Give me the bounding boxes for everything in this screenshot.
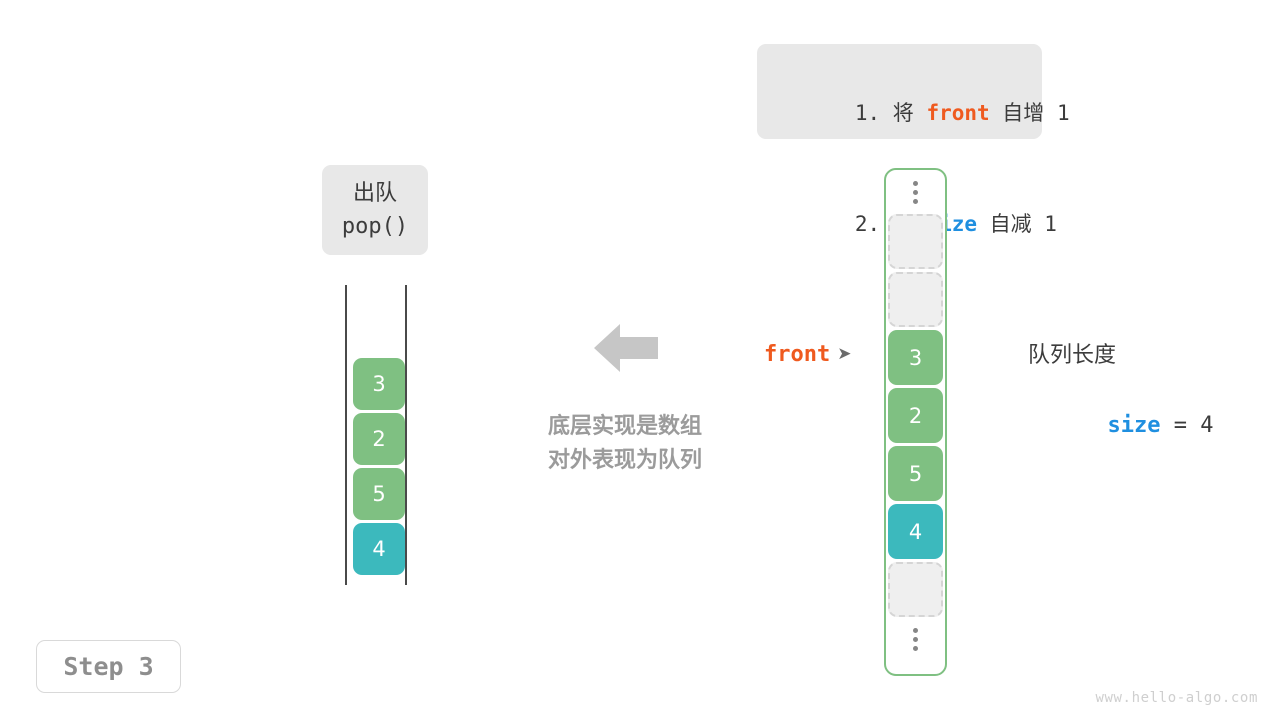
instruction-line-1-suffix: 自增 1 <box>990 101 1070 125</box>
instruction-line-1-prefix: 1. 将 <box>855 101 927 125</box>
array-empty-cell <box>888 562 943 617</box>
diagram-canvas: 1. 将 front 自增 1 2. 将 size 自减 1 出队 pop() … <box>0 0 1280 720</box>
queue-rail-right <box>405 285 407 585</box>
array-bottom-ellipsis-icon <box>913 617 918 661</box>
queue-cell: 4 <box>353 523 405 575</box>
queue-cell: 2 <box>353 413 405 465</box>
watermark-text: www.hello-algo.com <box>1095 690 1258 706</box>
center-caption-line-2: 对外表现为队列 <box>498 444 752 478</box>
queue-cell: 5 <box>353 468 405 520</box>
step-badge: Step 3 <box>36 640 181 693</box>
instruction-line-1-keyword: front <box>926 101 989 125</box>
step-badge-label: Step 3 <box>63 652 153 681</box>
size-annotation-var: size <box>1107 413 1160 438</box>
size-annotation-equals: = <box>1160 413 1200 438</box>
size-annotation-value: 4 <box>1200 413 1213 438</box>
instruction-line-1: 1. 将 front 自增 1 <box>779 58 1020 169</box>
array-cell: 4 <box>888 504 943 559</box>
size-annotation-title: 队列长度 <box>1028 340 1213 372</box>
operation-label-cn: 出队 <box>322 178 428 210</box>
left-arrow-icon <box>594 322 658 374</box>
array-top-ellipsis-icon <box>913 170 918 214</box>
array-cell: 2 <box>888 388 943 443</box>
center-caption: 底层实现是数组 对外表现为队列 <box>498 410 752 478</box>
array-cell-list: 3254 <box>888 214 943 617</box>
array-container: 3254 <box>884 168 947 676</box>
instruction-line-2-suffix: 自减 1 <box>977 212 1057 236</box>
operation-label-code: pop() <box>322 210 428 244</box>
front-pointer-arrow-icon: ➤ <box>837 346 851 363</box>
front-pointer: front ➤ <box>764 342 851 367</box>
instruction-box: 1. 将 front 自增 1 2. 将 size 自减 1 <box>757 44 1042 139</box>
array-empty-cell <box>888 272 943 327</box>
queue-cell-list: 3254 <box>353 358 401 578</box>
array-empty-cell <box>888 214 943 269</box>
array-cell: 5 <box>888 446 943 501</box>
size-annotation: 队列长度 size = 4 <box>1028 340 1213 480</box>
watermark: www.hello-algo.com <box>1095 690 1258 706</box>
size-annotation-expression: size = 4 <box>1028 372 1213 480</box>
queue-cell: 3 <box>353 358 405 410</box>
logical-queue: 3254 <box>340 285 412 585</box>
front-pointer-label: front <box>764 342 830 367</box>
queue-rail-left <box>345 285 347 585</box>
center-caption-line-1: 底层实现是数组 <box>498 410 752 444</box>
array-cell: 3 <box>888 330 943 385</box>
operation-label-box: 出队 pop() <box>322 165 428 255</box>
